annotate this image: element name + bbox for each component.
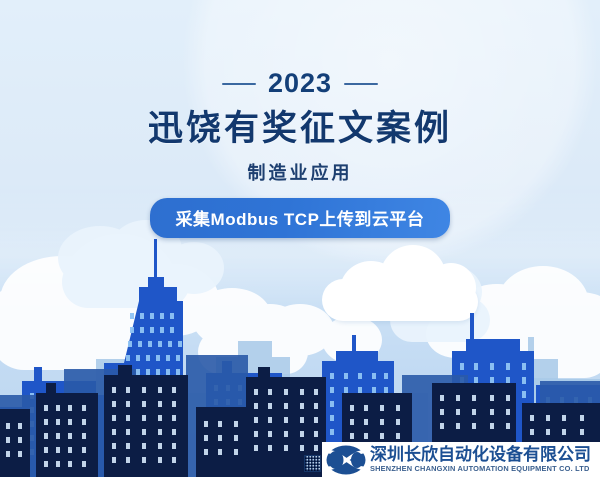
headline-block: 2023 迅饶有奖征文案例 制造业应用 采集Modbus TCP上传到云平台 (0, 0, 600, 238)
year-dash-left (222, 83, 256, 85)
company-name-block: 深圳长欣自动化设备有限公司 SHENZHEN CHANGXIN AUTOMATI… (370, 446, 591, 472)
badge-wrap: 采集Modbus TCP上传到云平台 (0, 198, 600, 238)
page-title: 迅饶有奖征文案例 (0, 110, 600, 149)
topic-badge: 采集Modbus TCP上传到云平台 (150, 198, 451, 238)
year-row: 2023 (0, 70, 600, 97)
qr-code-icon (304, 455, 321, 472)
page-subtitle: 制造业应用 (0, 159, 600, 185)
company-name-cn: 深圳长欣自动化设备有限公司 (370, 446, 591, 463)
footer-logo-band: 深圳长欣自动化设备有限公司 SHENZHEN CHANGXIN AUTOMATI… (322, 442, 600, 477)
company-name-en: SHENZHEN CHANGXIN AUTOMATION EQUIPMENT C… (370, 465, 591, 472)
banner-canvas: 2023 迅饶有奖征文案例 制造业应用 采集Modbus TCP上传到云平台 深… (0, 0, 600, 477)
year-dash-right (344, 83, 378, 85)
year-label: 2023 (268, 70, 332, 97)
changxin-logo-icon (326, 445, 366, 475)
